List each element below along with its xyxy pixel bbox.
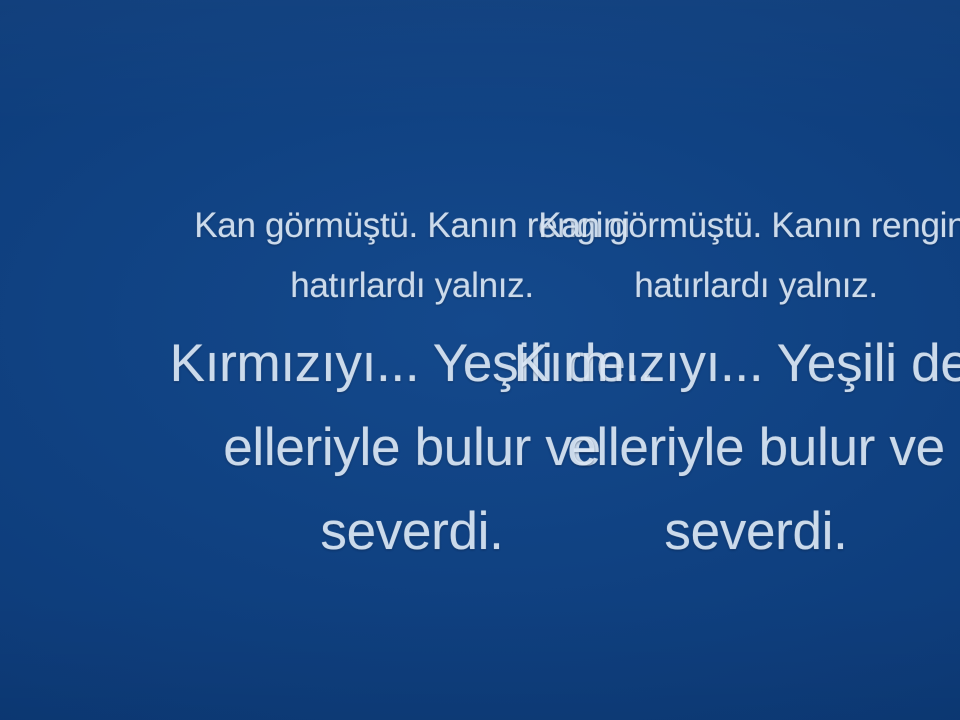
- caption-line-1b: Kan görmüştü. Kanın rengini: [336, 196, 960, 256]
- caption-line-3b: Kırmızıyı... Yeşili de..: [336, 322, 960, 406]
- caption-paragraph-1-ghost: Kan görmüştü. Kanın rengini hatırlardı y…: [336, 196, 960, 316]
- caption-layer-incoming: Kan görmüştü. Kanın rengini hatırlardı y…: [336, 196, 960, 574]
- video-frame: Kan görmüştü. Kanın rengini hatırlardı y…: [0, 0, 960, 720]
- caption-line-2b: hatırlardı yalnız.: [336, 256, 960, 316]
- caption-paragraph-2-ghost: Kırmızıyı... Yeşili de.. elleriyle bulur…: [336, 322, 960, 574]
- caption-line-4b: elleriyle bulur ve: [336, 406, 960, 490]
- caption-line-5b: severdi.: [336, 490, 960, 574]
